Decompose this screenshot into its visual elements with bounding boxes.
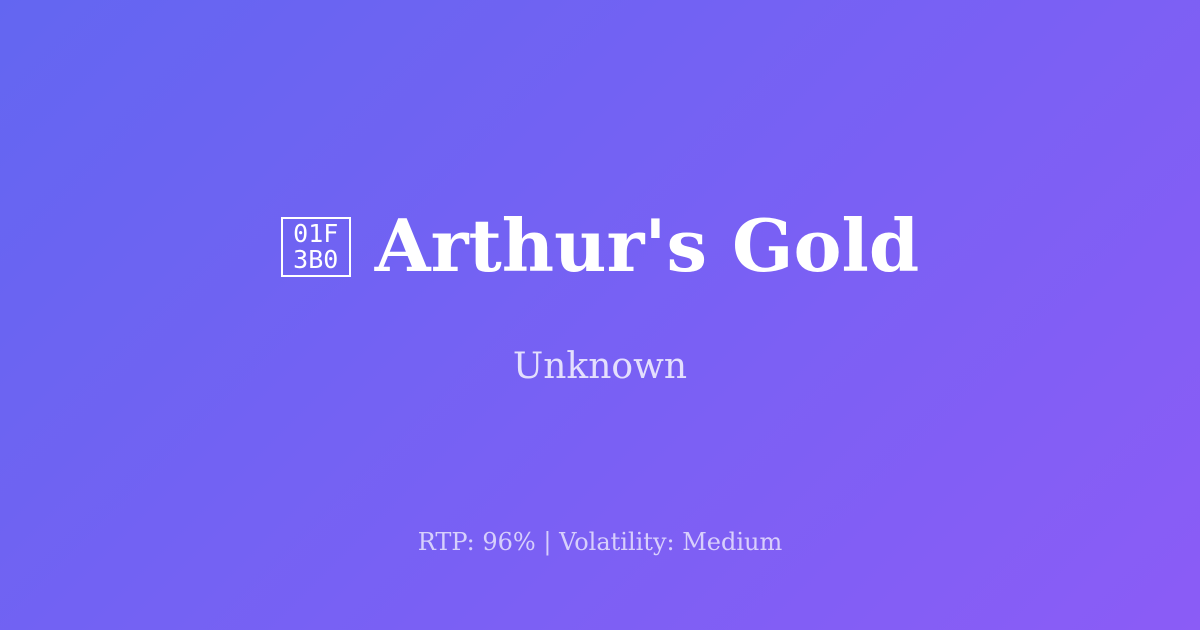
slot-machine-icon: 01F 3B0 (281, 217, 351, 277)
game-title: Arthur's Gold (375, 208, 920, 284)
tofu-codepoint-bottom: 3B0 (293, 247, 338, 273)
tofu-codepoint-top: 01F (293, 221, 338, 247)
game-preview-card: 01F 3B0 Arthur's Gold Unknown RTP: 96% |… (0, 0, 1200, 630)
game-stats-line: RTP: 96% | Volatility: Medium (0, 527, 1200, 557)
game-provider: Unknown (513, 345, 687, 388)
title-row: 01F 3B0 Arthur's Gold (241, 208, 960, 284)
